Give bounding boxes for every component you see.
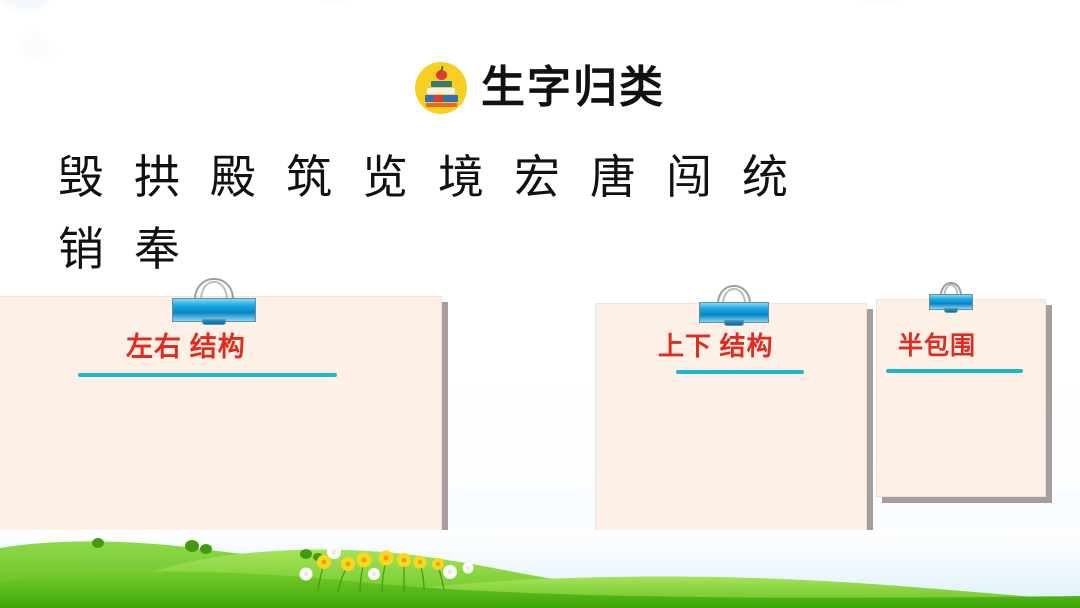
- card-left-right-label: 左右 结构: [126, 334, 246, 361]
- binder-clip-icon: [172, 278, 256, 326]
- character-cell: 拱: [120, 142, 196, 214]
- card-top-bottom-underline: [676, 370, 804, 374]
- card-semi-enclosed-label: 半包围: [898, 334, 976, 359]
- book-shape: [426, 103, 457, 107]
- character-row-2: 销奉: [44, 214, 1024, 286]
- character-cell: 览: [348, 142, 424, 214]
- character-cell: 奉: [120, 214, 196, 286]
- cloud-icon: [318, 0, 348, 4]
- grass-hills-flowers-icon: [0, 530, 1080, 608]
- clip-tab: [944, 308, 958, 313]
- character-cell: 境: [424, 142, 500, 214]
- cloud-icon: [34, 40, 56, 62]
- binder-clip-icon: [699, 285, 769, 327]
- character-cell: 统: [728, 142, 804, 214]
- card-semi-enclosed-underline: [886, 369, 1023, 373]
- books-apple-icon: [415, 62, 467, 114]
- character-cell: 毁: [44, 142, 120, 214]
- character-cell: 唐: [576, 142, 652, 214]
- binder-clip-icon: [929, 282, 973, 316]
- character-list: 毁拱殿筑览境宏唐闯统 销奉: [44, 142, 1024, 286]
- book-shape: [427, 88, 455, 94]
- clip-tab: [724, 320, 744, 326]
- clip-tab: [202, 319, 226, 325]
- slide-canvas: 生字归类 毁拱殿筑览境宏唐闯统 销奉 左右 结构 上下 结构 半包围: [0, 0, 1080, 608]
- character-cell: 宏: [500, 142, 576, 214]
- character-cell: 销: [44, 214, 120, 286]
- character-cell: 闯: [652, 142, 728, 214]
- page-title-row: 生字归类: [0, 62, 1080, 114]
- page-title: 生字归类: [481, 66, 665, 110]
- character-row-1: 毁拱殿筑览境宏唐闯统: [44, 142, 1024, 214]
- character-cell: 殿: [196, 142, 272, 214]
- apple-shape: [436, 70, 447, 80]
- book-shape: [425, 95, 458, 102]
- book-shape: [431, 81, 452, 87]
- card-semi-enclosed-structure[interactable]: [876, 299, 1046, 497]
- card-left-right-underline: [78, 373, 337, 377]
- card-top-bottom-label: 上下 结构: [658, 334, 774, 360]
- cloud-icon: [860, 0, 900, 4]
- character-cell: 筑: [272, 142, 348, 214]
